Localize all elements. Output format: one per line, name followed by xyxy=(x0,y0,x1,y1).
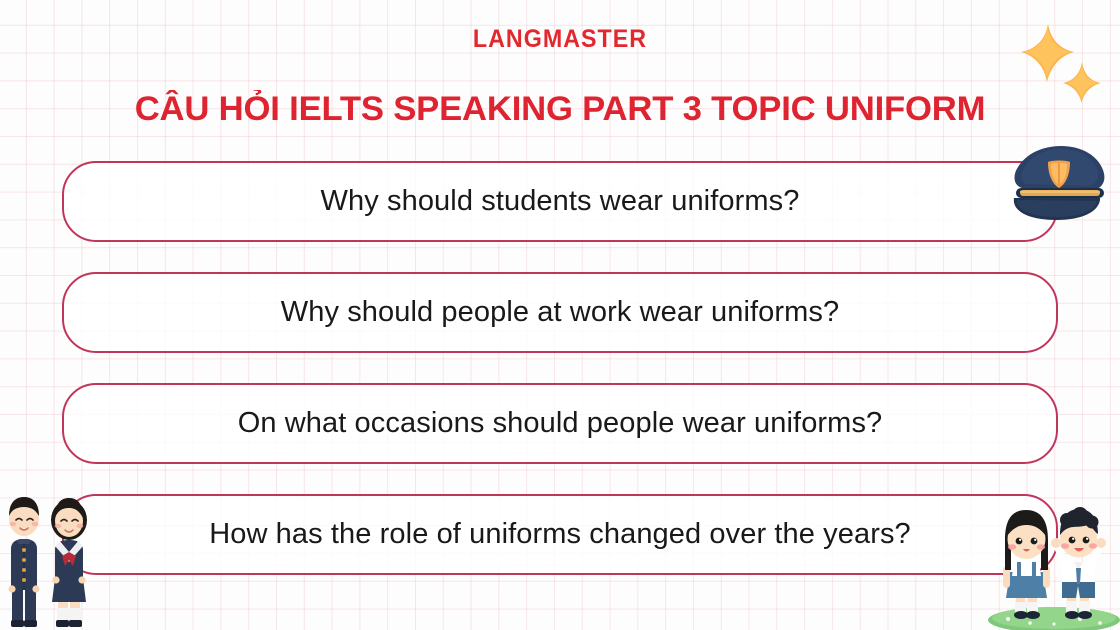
question-box-1[interactable]: Why should students wear uniforms? xyxy=(62,161,1058,242)
question-box-4[interactable]: How has the role of uniforms changed ove… xyxy=(62,494,1058,575)
police-cap-icon xyxy=(1004,136,1114,228)
page-title: CÂU HỎI IELTS SPEAKING PART 3 TOPIC UNIF… xyxy=(0,90,1120,128)
question-list: Why should students wear uniforms? Why s… xyxy=(62,161,1058,575)
cartoon-kids-illustration xyxy=(984,506,1120,630)
sparkles-icon xyxy=(1016,22,1112,104)
question-text: Why should people at work wear uniforms? xyxy=(281,295,839,330)
question-text: How has the role of uniforms changed ove… xyxy=(209,517,911,552)
japanese-students-illustration xyxy=(0,490,104,630)
question-text: On what occasions should people wear uni… xyxy=(238,406,883,441)
langmaster-logo: LANGMASTER xyxy=(39,27,1081,52)
slide-canvas: LANGMASTER CÂU HỎI IELTS SPEAKING PART 3… xyxy=(0,0,1120,630)
question-text: Why should students wear uniforms? xyxy=(321,184,800,219)
question-box-2[interactable]: Why should people at work wear uniforms? xyxy=(62,272,1058,353)
question-box-3[interactable]: On what occasions should people wear uni… xyxy=(62,383,1058,464)
